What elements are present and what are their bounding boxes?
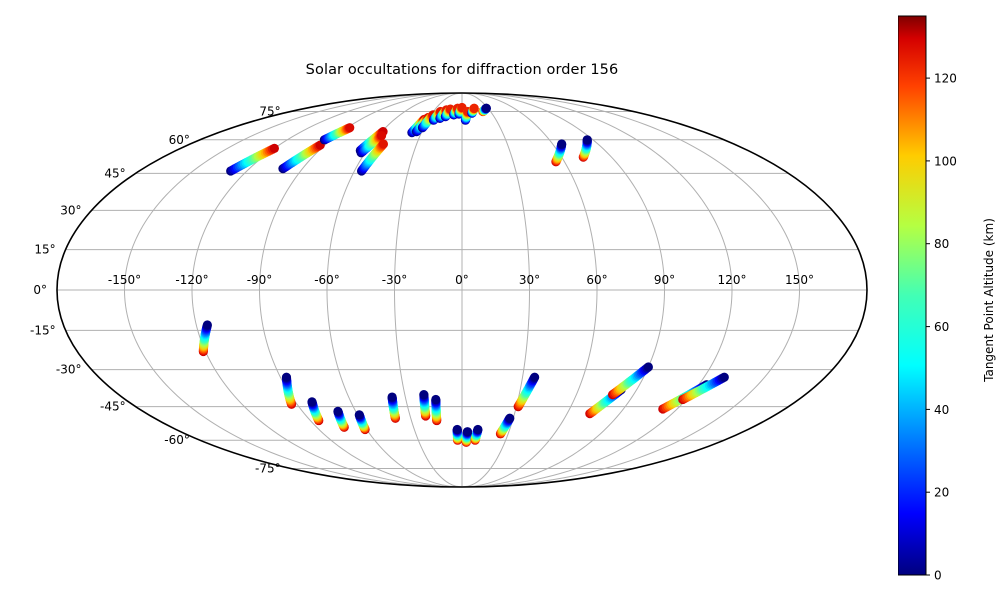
colorbar-tick-label: 80 — [934, 237, 949, 251]
latitude-tick-label: -45° — [100, 400, 126, 414]
occultation-point — [270, 144, 279, 153]
occultation-point — [505, 414, 514, 423]
occultation-point — [282, 373, 291, 382]
occultation-point — [379, 139, 388, 148]
colorbar-tick-label: 0 — [934, 569, 942, 583]
latitude-tick-label: -60° — [164, 433, 190, 447]
latitude-tick-label: 0° — [33, 283, 47, 297]
occultation-track — [333, 407, 348, 432]
occultation-point — [453, 425, 462, 434]
colorbar-tick-label: 40 — [934, 403, 949, 417]
occultation-point — [419, 390, 428, 399]
latitude-tick-label: 60° — [169, 133, 190, 147]
occultation-track — [496, 414, 515, 439]
occultation-track — [467, 104, 478, 118]
colorbar-ticks: 020406080100120 — [926, 72, 957, 583]
occultation-point — [431, 395, 440, 404]
colorbar-tick-label: 120 — [934, 72, 957, 86]
colorbar-axis-label: Tangent Point Altitude (km) — [982, 218, 996, 382]
occultation-track — [462, 427, 472, 447]
occultation-point — [530, 373, 539, 382]
occultation-track — [431, 395, 441, 425]
occultation-track — [419, 390, 430, 421]
longitude-tick-label: 60° — [586, 273, 607, 287]
occultation-track — [579, 135, 592, 162]
occultation-track — [453, 425, 463, 445]
colorbar-gradient[interactable] — [898, 16, 926, 575]
figure-canvas: Solar occultations for diffraction order… — [0, 0, 1000, 600]
latitude-tick-label: 75° — [259, 105, 280, 119]
colorbar-svg[interactable]: 020406080100120 — [898, 0, 968, 600]
colorbar-tick-label: 100 — [934, 154, 957, 168]
occultation-point — [345, 123, 354, 132]
occultation-point — [463, 427, 472, 436]
longitude-tick-label: -150° — [108, 273, 141, 287]
occultation-track — [514, 373, 540, 412]
occultation-track — [199, 320, 212, 356]
occultation-point — [203, 320, 212, 329]
mollweide-map-axes: 75°60°45°30°15°0°-15°-30°-45°-60°-75°-15… — [0, 0, 1000, 600]
occultation-point — [473, 425, 482, 434]
occultation-track — [478, 104, 491, 116]
occultation-point — [377, 131, 386, 140]
occultation-point — [388, 392, 397, 401]
latitude-tick-label: 45° — [104, 166, 125, 180]
longitude-tick-label: 0° — [455, 273, 469, 287]
occultation-point — [644, 362, 653, 371]
occultation-track — [320, 123, 355, 144]
longitude-tick-label: -120° — [175, 273, 208, 287]
colorbar-tick-label: 20 — [934, 486, 949, 500]
occultation-point — [583, 135, 592, 144]
longitude-tick-label: 120° — [718, 273, 747, 287]
latitude-tick-label: -15° — [30, 323, 56, 337]
occultation-point — [307, 397, 316, 406]
occultation-track — [278, 141, 324, 174]
occultation-point — [557, 139, 566, 148]
occultation-track — [282, 373, 296, 409]
latitude-tick-label: -30° — [56, 363, 82, 377]
latitude-tick-label: 30° — [60, 203, 81, 217]
occultation-track — [551, 139, 566, 166]
occultation-point — [470, 104, 479, 113]
longitude-tick-label: 150° — [785, 273, 814, 287]
occultation-track — [388, 392, 400, 422]
longitude-tick-label: -90° — [247, 273, 273, 287]
colorbar-tick-label: 60 — [934, 320, 949, 334]
occultation-point — [482, 104, 491, 113]
longitude-tick-label: -60° — [314, 273, 340, 287]
graticule — [57, 93, 867, 487]
occultation-point — [333, 407, 342, 416]
occultation-track — [608, 362, 653, 399]
longitude-tick-label: 30° — [519, 273, 540, 287]
longitude-tick-label: -30° — [382, 273, 408, 287]
occultation-track — [471, 425, 483, 445]
occultation-track — [355, 410, 370, 434]
occultation-track — [226, 144, 279, 176]
occultation-point — [720, 373, 729, 382]
occultation-point — [355, 410, 364, 419]
longitude-tick-label: 90° — [654, 273, 675, 287]
latitude-tick-label: 15° — [34, 243, 55, 257]
latitude-tick-label: -75° — [255, 462, 281, 476]
occultation-track — [307, 397, 323, 425]
chart-title: Solar occultations for diffraction order… — [0, 62, 924, 78]
